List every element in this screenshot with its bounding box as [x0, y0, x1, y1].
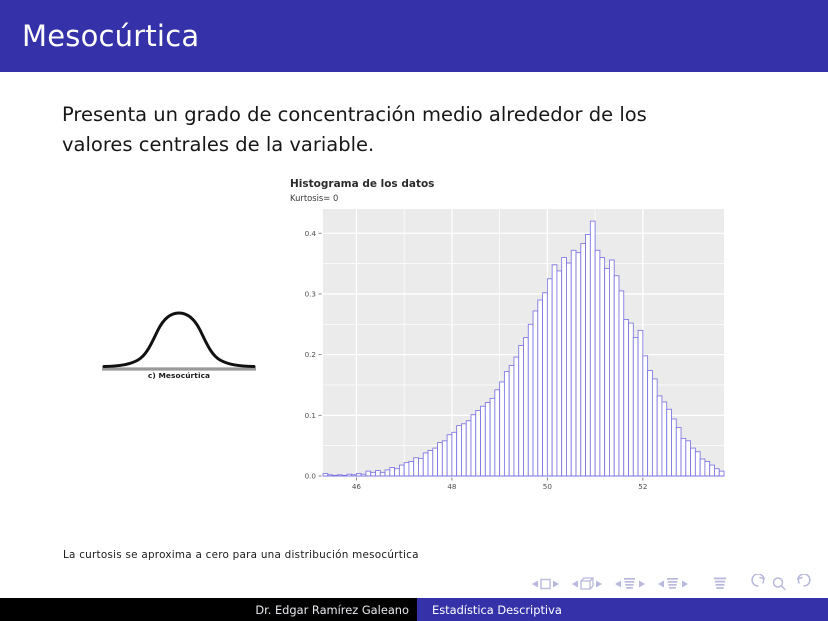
histogram-bar	[614, 276, 619, 476]
mesokurtic-curve-figure	[100, 300, 258, 378]
back-arrow-head	[760, 578, 764, 584]
histogram-bar	[671, 419, 676, 476]
chart-subtitle: Kurtosis= 0	[290, 193, 338, 203]
histogram-bar	[562, 258, 567, 476]
forward-icon	[798, 574, 810, 586]
next-section-icon	[682, 581, 688, 588]
histogram-bar	[418, 458, 423, 476]
histogram-bar	[643, 356, 648, 476]
histogram-bar	[629, 323, 634, 476]
forward-arrow-head	[798, 578, 802, 584]
histogram-bar	[461, 424, 466, 476]
histogram-bar	[648, 370, 653, 476]
y-tick-label: 0.3	[305, 290, 316, 299]
histogram-bar	[695, 452, 700, 476]
histogram-bar	[438, 443, 443, 476]
histogram-bar	[686, 441, 691, 476]
histogram-bar	[667, 409, 672, 476]
histogram-bar	[485, 403, 490, 476]
body-line-1: Presenta un grado de concentración medio…	[62, 100, 752, 130]
histogram-bar	[586, 234, 591, 476]
toc-icon	[714, 578, 726, 589]
x-tick-label: 52	[638, 482, 647, 491]
histogram-bar	[566, 263, 571, 476]
histogram-bar	[481, 406, 486, 476]
histogram-bar	[705, 461, 710, 476]
histogram-bar	[390, 468, 395, 476]
histogram-bar	[600, 258, 605, 476]
x-tick-label: 48	[447, 482, 457, 491]
histogram-bar	[395, 469, 400, 476]
back-icon	[752, 574, 764, 586]
histogram-bar	[490, 398, 495, 476]
histogram-bar	[638, 330, 643, 476]
body-paragraph: Presenta un grado de concentración medio…	[62, 100, 752, 160]
histogram-bar	[423, 453, 428, 476]
prev-section-icon	[658, 581, 664, 588]
next-slide-icon	[553, 581, 559, 588]
histogram-bar	[366, 471, 371, 476]
histogram-bar	[652, 379, 657, 476]
bell-curve-path	[104, 313, 254, 367]
histogram-bar	[581, 244, 586, 476]
chart-x-axis: 46485052	[352, 478, 648, 492]
histogram-bar	[528, 324, 533, 476]
y-tick-label: 0.0	[305, 472, 317, 481]
histogram-bar	[538, 300, 543, 476]
histogram-bar	[514, 357, 519, 476]
histogram-bar	[380, 472, 385, 476]
page-title: Mesocúrtica	[22, 19, 199, 53]
histogram-bar	[385, 470, 390, 476]
histogram-bar	[414, 458, 419, 476]
histogram-bar	[524, 338, 529, 476]
histogram-bar	[557, 271, 562, 476]
histogram-bar	[710, 465, 715, 476]
current-section-icon	[667, 578, 678, 589]
histogram-bar	[428, 451, 433, 476]
prev-subsection-icon	[615, 581, 621, 588]
histogram-bar	[509, 366, 514, 476]
histogram-bar	[457, 426, 462, 476]
histogram-bar	[504, 372, 509, 476]
search-handle	[782, 586, 786, 590]
histogram-bar	[442, 441, 447, 476]
histogram-bar	[676, 427, 681, 476]
histogram-bar	[433, 448, 438, 476]
next-subsection-icon	[639, 581, 645, 588]
footer-author: Dr. Edgar Ramírez Galeano	[0, 598, 417, 621]
chart-y-axis: 0.00.10.20.30.4	[305, 229, 322, 481]
body-line-2: valores centrales de la variable.	[62, 130, 752, 160]
bottom-note: La curtosis se aproxima a cero para una …	[63, 549, 419, 561]
histogram-bar	[595, 250, 600, 476]
current-subsection-icon	[624, 578, 635, 589]
histogram-bar	[619, 291, 624, 476]
y-tick-label: 0.4	[305, 229, 317, 238]
histogram-bar	[399, 465, 404, 476]
histogram-bar	[633, 338, 638, 476]
prev-frame-icon	[572, 581, 578, 588]
histogram-bar	[533, 311, 538, 476]
histogram-bar	[404, 463, 409, 476]
y-tick-label: 0.1	[305, 411, 316, 420]
histogram-bar	[466, 421, 471, 476]
histogram-bar	[657, 396, 662, 476]
histogram-bar	[714, 469, 719, 476]
histogram-bar	[452, 432, 457, 476]
histogram-bar	[576, 253, 581, 476]
histogram-bar	[495, 390, 500, 476]
histogram-bar	[700, 459, 705, 476]
bell-curve-caption: c) Mesocúrtica	[100, 371, 258, 380]
next-frame-icon	[596, 581, 602, 588]
x-tick-label: 50	[543, 482, 553, 491]
histogram-bar	[571, 250, 576, 476]
x-tick-label: 46	[352, 482, 362, 491]
histogram-bar	[552, 265, 557, 476]
y-tick-label: 0.2	[305, 350, 316, 359]
histogram-bar	[371, 472, 376, 476]
current-slide-icon	[541, 580, 550, 589]
slide-footer: Dr. Edgar Ramírez Galeano Estadística De…	[0, 598, 828, 621]
histogram-bar	[624, 319, 629, 476]
histogram-bar	[590, 221, 595, 476]
histogram-bar	[476, 410, 481, 476]
beamer-navigation-bar[interactable]	[528, 574, 816, 594]
prev-slide-icon	[532, 581, 538, 588]
histogram-bar	[691, 448, 696, 476]
histogram-bar	[547, 279, 552, 476]
histogram-bar	[471, 415, 476, 476]
histogram-figure: Histograma de los datos Kurtosis= 0 0.00…	[284, 178, 726, 498]
histogram-bar	[519, 346, 524, 476]
histogram-bar	[662, 402, 667, 476]
footer-subject: Estadística Descriptiva	[417, 598, 828, 621]
histogram-bar	[409, 461, 414, 476]
histogram-bar	[500, 382, 505, 476]
chart-title: Histograma de los datos	[290, 178, 434, 190]
histogram-bar	[681, 438, 686, 476]
slide-header: Mesocúrtica	[0, 0, 828, 72]
histogram-bar	[605, 268, 610, 476]
histogram-bar	[543, 293, 548, 476]
histogram-bar	[719, 471, 724, 476]
histogram-bar	[609, 260, 614, 476]
chart-plot-area: 0.00.10.20.30.4 46485052	[293, 207, 726, 498]
current-frame-icon	[581, 578, 593, 589]
histogram-bar	[447, 435, 452, 476]
histogram-bar	[376, 471, 381, 476]
